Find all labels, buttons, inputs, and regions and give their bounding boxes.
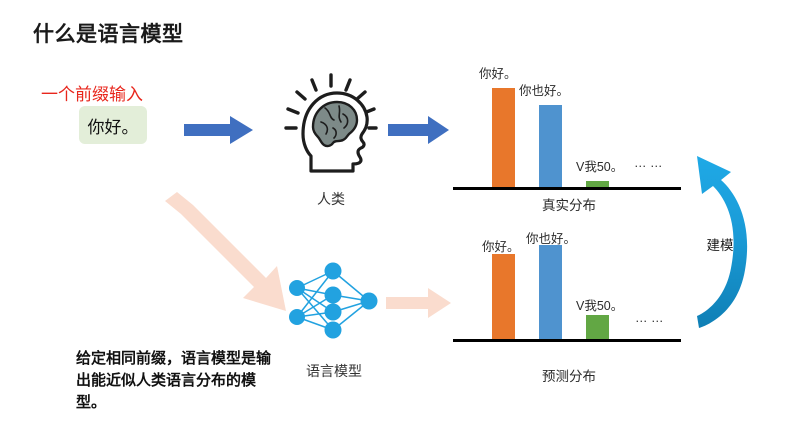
slide-canvas: 什么是语言模型 一个前缀输入 你好。	[0, 0, 793, 446]
bar-label-2: V我50。	[576, 156, 623, 175]
prefix-input-value: 你好。	[88, 113, 139, 138]
bar-label-1: 你也好。	[526, 228, 576, 247]
chart-true-distribution: 你好。 你也好。 V我50。 … … 真实分布	[453, 60, 685, 210]
model-label: 语言模型	[275, 361, 393, 381]
bar-0	[492, 88, 515, 190]
bar-2	[586, 315, 609, 342]
bar-1	[539, 105, 562, 190]
arrow-right-icon	[386, 287, 452, 319]
modeling-label: 建模	[695, 234, 745, 254]
neural-network-icon	[283, 262, 385, 340]
bar-1	[539, 245, 562, 342]
arrow-right-icon	[388, 115, 450, 145]
chart-predicted-distribution: 你好。 你也好。 V我50。 … … 预测分布	[453, 228, 685, 388]
chart-caption: 预测分布	[453, 365, 685, 385]
bar-ellipsis: … …	[635, 311, 663, 325]
bar-label-0: 你好。	[482, 236, 520, 255]
bar-0	[492, 254, 515, 342]
human-head-brain-icon	[277, 72, 385, 180]
chart-caption: 真实分布	[453, 194, 685, 214]
summary-text: 给定相同前缀，语言模型是输出能近似人类语言分布的模型。	[76, 348, 276, 413]
bar-label-1: 你也好。	[519, 80, 569, 99]
prefix-input-chip: 你好。	[79, 106, 147, 144]
chart-plot-area: 你好。 你也好。 V我50。 … …	[453, 228, 685, 342]
chart-baseline-axis	[453, 339, 681, 342]
bar-label-2: V我50。	[576, 295, 623, 314]
chart-baseline-axis	[453, 187, 681, 190]
page-title: 什么是语言模型	[33, 18, 184, 48]
prefix-caption: 一个前缀输入	[41, 80, 143, 105]
bar-label-0: 你好。	[479, 63, 517, 82]
arrow-right-icon	[184, 115, 254, 145]
chart-plot-area: 你好。 你也好。 V我50。 … …	[453, 60, 685, 190]
bar-ellipsis: … …	[634, 156, 662, 170]
arrow-diagonal-down-right-icon	[160, 192, 295, 317]
